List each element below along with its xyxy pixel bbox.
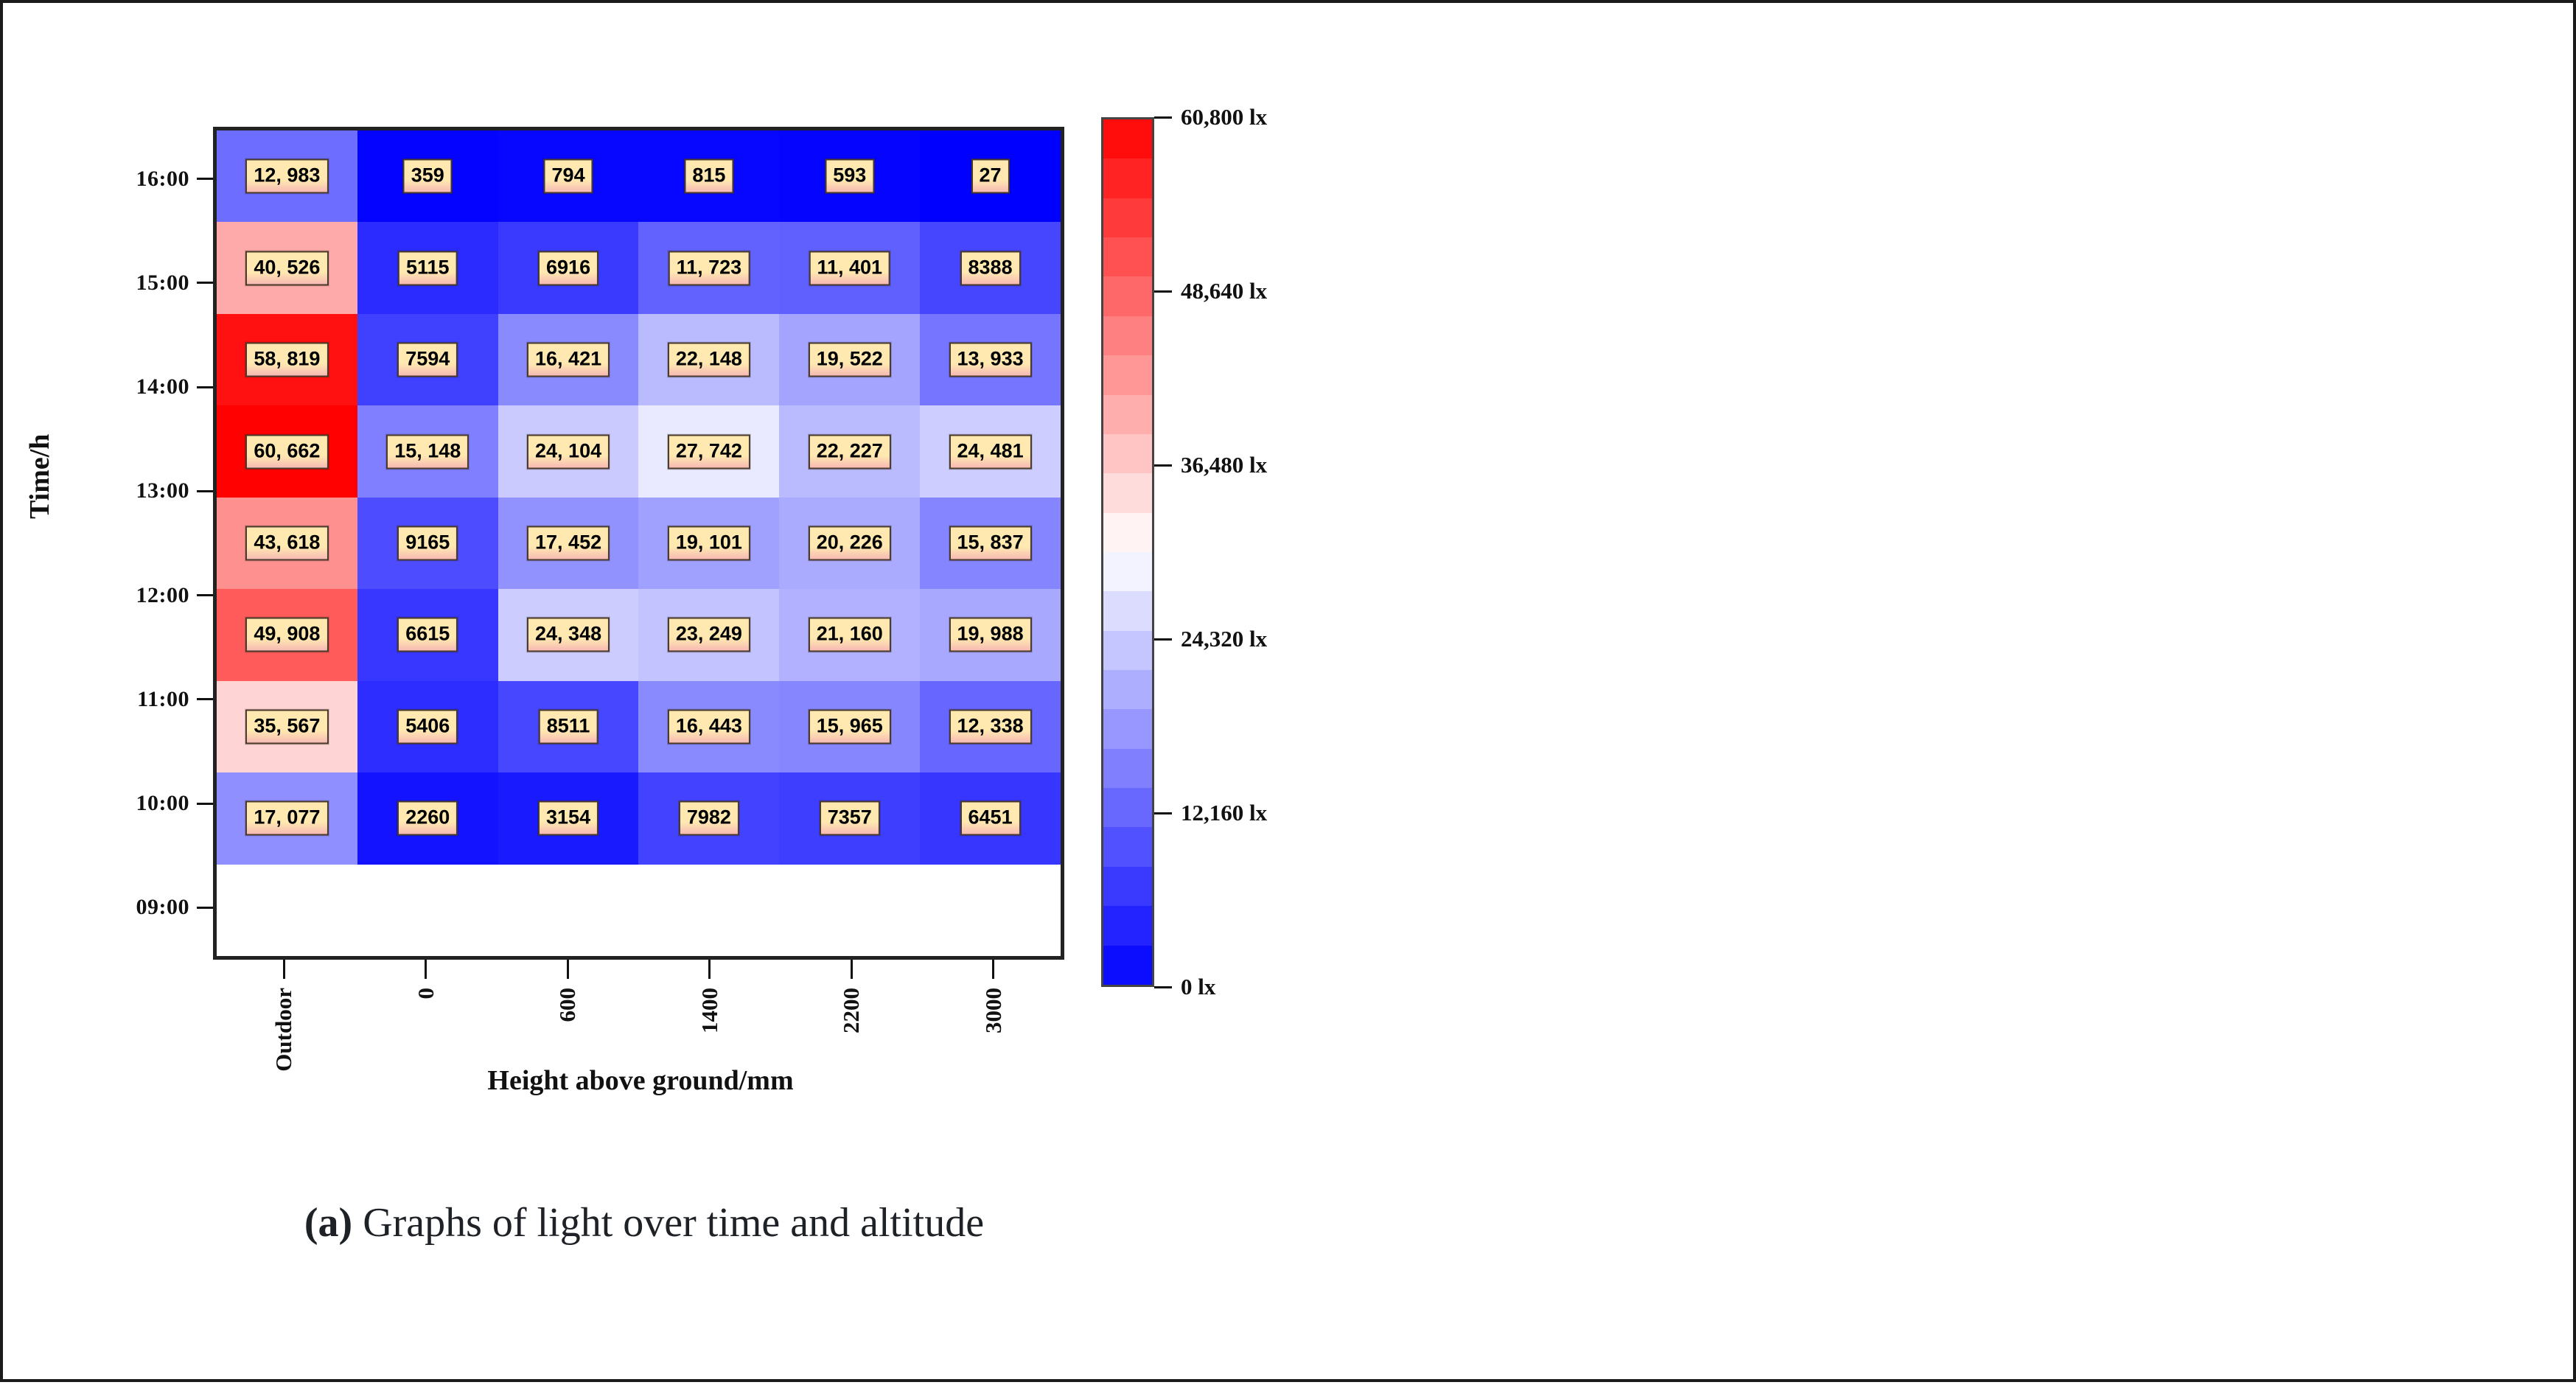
panel-a-cell-value: 35, 567	[245, 709, 328, 744]
panel-a-cell: 35, 567	[217, 681, 357, 772]
panel-a-cell-value: 12, 338	[949, 709, 1032, 744]
panel-a-cell-value: 24, 104	[527, 434, 610, 469]
panel-a-cell: 23, 249	[638, 589, 779, 680]
panel-a-cell-value: 24, 348	[527, 618, 610, 652]
panel-a-cell-value: 27, 742	[668, 434, 750, 469]
caption-a-text: Graphs of light over time and altitude	[352, 1200, 984, 1246]
panel-a-cell: 7982	[638, 772, 779, 864]
panel-a-colorbar-segment	[1103, 670, 1152, 709]
panel-a-cell: 11, 401	[779, 222, 920, 313]
panel-a-cell-value: 16, 421	[527, 343, 610, 377]
panel-a-x-tick-label: 2200	[838, 988, 865, 1033]
panel-a-colorbar	[1101, 117, 1154, 987]
panel-a-colorbar-tick-mark	[1154, 638, 1172, 641]
panel-a-cell: 794	[498, 130, 639, 222]
panel-a-x-tick-mark	[851, 960, 853, 979]
panel-a-cell-value: 11, 723	[669, 251, 750, 285]
panel-a-colorbar-segment	[1103, 198, 1152, 237]
panel-a-colorbar-segment	[1103, 158, 1152, 198]
panel-a-cell: 9165	[357, 498, 498, 589]
panel-a-cell-value: 593	[825, 159, 874, 194]
panel-a-cell: 359	[357, 130, 498, 222]
panel-a-cell-value: 60, 662	[245, 434, 328, 469]
panel-a-cell-value: 19, 101	[668, 526, 750, 560]
panel-a-cell-value: 15, 965	[809, 709, 891, 744]
panel-a-colorbar-tick-label: 48,640 lx	[1181, 278, 1267, 304]
panel-a-x-tick-label: Outdoor	[270, 988, 297, 1072]
panel-a-cell-value: 17, 077	[245, 801, 328, 836]
panel-a-cell: 2260	[357, 772, 498, 864]
panel-a-colorbar-tick-label: 24,320 lx	[1181, 626, 1267, 652]
panel-a-cell: 60, 662	[217, 405, 357, 497]
panel-a-y-tick-mark	[197, 490, 213, 492]
panel-a-y-tick-label: 16:00	[136, 167, 190, 192]
panel-a-cell-value: 9165	[397, 526, 458, 560]
panel-a-y-tick-label: 12:00	[136, 583, 190, 608]
panel-a-cell-value: 19, 522	[809, 343, 891, 377]
panel-a-colorbar-segment	[1103, 867, 1152, 906]
panel-a-x-tick-label: 3000	[980, 988, 1007, 1033]
panel-a-cell: 5406	[357, 681, 498, 772]
panel-a-colorbar-tick-mark	[1154, 290, 1172, 293]
panel-a-colorbar-tick: 0 lx	[1154, 974, 1215, 1000]
panel-a-colorbar-tick: 24,320 lx	[1154, 626, 1267, 652]
panel-a-colorbar-segment	[1103, 631, 1152, 670]
panel-a-cell-value: 22, 227	[809, 434, 891, 469]
panel-a-colorbar-segment	[1103, 591, 1152, 630]
panel-a-colorbar-tick-label: 12,160 lx	[1181, 800, 1267, 826]
panel-a-cell-value: 6615	[397, 618, 458, 652]
panel-a-x-tick-label: 0	[413, 988, 439, 999]
panel-a-cell-value: 7982	[679, 801, 739, 836]
panel-a-cell-value: 7357	[820, 801, 880, 836]
panel-a-cell-value: 21, 160	[809, 618, 891, 652]
panel-a-x-tick: 0	[413, 960, 439, 1003]
panel-a-cell-value: 17, 452	[527, 526, 610, 560]
panel-a-cell-value: 20, 226	[809, 526, 891, 560]
panel-a-cell: 40, 526	[217, 222, 357, 313]
panel-a-cell-value: 6451	[960, 801, 1021, 836]
panel-a-cell-value: 12, 983	[245, 159, 328, 194]
panel-a-colorbar-tick-label: 36,480 lx	[1181, 452, 1267, 478]
panel-a-colorbar-segment	[1103, 552, 1152, 591]
panel-a-colorbar-segment	[1103, 237, 1152, 276]
panel-a-cell: 15, 965	[779, 681, 920, 772]
panel-a-x-tick: 1400	[697, 960, 723, 1037]
panel-a-cell: 19, 522	[779, 314, 920, 405]
panel-a-x-tick: 2200	[838, 960, 865, 1037]
panel-a-colorbar-segment	[1103, 434, 1152, 473]
panel-b-y-axis: 16:0015:0014:0013:0012:0011:0010:0009:00	[2568, 16, 2576, 952]
panel-a-colorbar-segment	[1103, 946, 1152, 985]
panel-a-x-tick-mark	[708, 960, 711, 979]
panel-a-cell-value: 3154	[538, 801, 598, 836]
panel-a-cell: 16, 443	[638, 681, 779, 772]
panel-a-cell-value: 11, 401	[809, 251, 890, 285]
panel-a-y-tick-label: 11:00	[137, 687, 189, 712]
panel-a-cell-value: 8388	[960, 251, 1021, 285]
panel-a-x-tick: 600	[554, 960, 581, 1026]
panel-a-colorbar-tick-mark	[1154, 986, 1172, 988]
panel-a-cell-value: 27	[971, 159, 1010, 194]
panel-a-cell: 15, 148	[357, 405, 498, 497]
panel-a-x-tick-mark	[425, 960, 427, 979]
panel-a-colorbar-segment	[1103, 395, 1152, 434]
panel-a-cell-value: 6916	[538, 251, 598, 285]
panel-a-cell: 7357	[779, 772, 920, 864]
panel-a-cell-value: 15, 837	[949, 526, 1032, 560]
panel-a-colorbar-segment	[1103, 119, 1152, 158]
panel-a-cell: 3154	[498, 772, 639, 864]
panel-a-cell: 13, 933	[920, 314, 1061, 405]
panel-a-cell: 19, 101	[638, 498, 779, 589]
panel-a-cell-value: 815	[684, 159, 733, 194]
panel-a-x-tick: 3000	[980, 960, 1007, 1037]
panel-a-heatmap-grid: 12, 9833597948155932740, 5265115691611, …	[213, 127, 1064, 960]
panel-a-light-heatmap: Time/h 16:0015:0014:0013:0012:0011:0010:…	[3, 3, 1285, 1385]
panel-a-y-tick-label: 13:00	[136, 478, 190, 503]
panel-a-y-tick-label: 10:00	[136, 791, 190, 816]
panel-a-cell: 17, 077	[217, 772, 357, 864]
panel-a-colorbar-segment	[1103, 906, 1152, 945]
figure-frame: Time/h 16:0015:0014:0013:0012:0011:0010:…	[0, 0, 2576, 1382]
panel-a-cell: 19, 988	[920, 589, 1061, 680]
panel-a-cell: 7594	[357, 314, 498, 405]
panel-a-colorbar-segment	[1103, 788, 1152, 827]
panel-a-colorbar-segment	[1103, 473, 1152, 512]
panel-a-colorbar-segment	[1103, 276, 1152, 315]
panel-a-cell: 12, 983	[217, 130, 357, 222]
panel-a-cell-value: 15, 148	[386, 434, 469, 469]
panel-a-cell: 49, 908	[217, 589, 357, 680]
panel-a-cell: 20, 226	[779, 498, 920, 589]
panel-a-cell: 8511	[498, 681, 639, 772]
panel-a-y-tick-mark	[197, 698, 213, 700]
panel-a-cell-value: 5115	[398, 251, 458, 285]
panel-a-cell-value: 22, 148	[668, 343, 750, 377]
panel-a-colorbar-segment	[1103, 749, 1152, 788]
panel-a-cell: 815	[638, 130, 779, 222]
panel-a-cell-value: 794	[544, 159, 593, 194]
panel-a-cell: 15, 837	[920, 498, 1061, 589]
panel-a-cell: 21, 160	[779, 589, 920, 680]
panel-a-y-tick-mark	[197, 803, 213, 805]
panel-a-x-axis-label: Height above ground/mm	[257, 1064, 1024, 1097]
panel-a-cell: 593	[779, 130, 920, 222]
panel-a-cell: 6451	[920, 772, 1061, 864]
panel-a-y-axis: 16:0015:0014:0013:0012:0011:0010:0009:00	[3, 127, 213, 960]
panel-a-cell-value: 359	[403, 159, 453, 194]
panel-a-y-tick-label: 09:00	[136, 895, 190, 920]
panel-a-y-tick-mark	[197, 907, 213, 909]
panel-a-cell-value: 7594	[397, 343, 458, 377]
panel-a-cell: 43, 618	[217, 498, 357, 589]
panel-a-y-tick-label: 15:00	[136, 271, 190, 296]
panel-a-cell: 24, 481	[920, 405, 1061, 497]
panel-a-cell-value: 23, 249	[668, 618, 750, 652]
panel-a-x-tick-mark	[567, 960, 569, 979]
panel-a-cell: 6615	[357, 589, 498, 680]
panel-a-colorbar-tick-label: 60,800 lx	[1181, 104, 1267, 130]
panel-a-cell-value: 5406	[397, 709, 458, 744]
panel-a-cell-value: 24, 481	[949, 434, 1032, 469]
panel-a-y-tick-mark	[197, 178, 213, 180]
panel-a-x-tick-mark	[992, 960, 994, 979]
panel-a-cell-value: 19, 988	[949, 618, 1032, 652]
panel-a-cell-value: 2260	[397, 801, 458, 836]
panel-a-x-tick: Outdoor	[270, 960, 297, 1075]
panel-a-colorbar-tick: 48,640 lx	[1154, 278, 1267, 304]
panel-a-colorbar-segment	[1103, 355, 1152, 394]
panel-a-y-tick-mark	[197, 282, 213, 284]
panel-a-x-tick-label: 1400	[697, 988, 723, 1033]
panel-a-colorbar-tick-label: 0 lx	[1181, 974, 1215, 1000]
panel-a-cell: 12, 338	[920, 681, 1061, 772]
panel-a-cell: 16, 421	[498, 314, 639, 405]
panel-a-colorbar-segment	[1103, 316, 1152, 355]
panel-a-x-axis: Outdoor0600140022003000	[213, 960, 1064, 1137]
panel-a-cell: 24, 104	[498, 405, 639, 497]
panel-a-colorbar-segment	[1103, 513, 1152, 552]
panel-a-cell-value: 49, 908	[245, 618, 328, 652]
panel-a-cell: 27, 742	[638, 405, 779, 497]
caption-a-prefix: (a)	[304, 1200, 352, 1246]
panel-a-colorbar-tick: 36,480 lx	[1154, 452, 1267, 478]
panel-a-colorbar-segment	[1103, 827, 1152, 866]
panel-a-colorbar-tick-mark	[1154, 464, 1172, 467]
caption-a: (a) Graphs of light over time and altitu…	[47, 1197, 1241, 1249]
panel-a-cell: 58, 819	[217, 314, 357, 405]
panel-a-colorbar-tick-mark	[1154, 812, 1172, 814]
panel-a-cell-value: 8511	[539, 709, 598, 744]
panel-a-colorbar-tick-mark	[1154, 116, 1172, 119]
panel-a-cell: 22, 227	[779, 405, 920, 497]
panel-b-temperature-heatmap: Time/h 16:0015:0014:0013:0012:0011:0010:…	[1285, 3, 2576, 1385]
panel-a-cell-value: 16, 443	[668, 709, 750, 744]
panel-a-cell: 5115	[357, 222, 498, 313]
panel-a-cell-value: 13, 933	[949, 343, 1032, 377]
panel-a-y-tick-mark	[197, 386, 213, 388]
panel-a-colorbar-segment	[1103, 709, 1152, 748]
panel-a-y-tick-mark	[197, 594, 213, 596]
panel-a-x-tick-mark	[283, 960, 285, 979]
panel-a-cell: 6916	[498, 222, 639, 313]
panel-a-cell: 8388	[920, 222, 1061, 313]
panel-a-cell-value: 58, 819	[245, 343, 328, 377]
panel-a-colorbar-tick: 12,160 lx	[1154, 800, 1267, 826]
panel-a-cell: 22, 148	[638, 314, 779, 405]
panel-a-cell: 24, 348	[498, 589, 639, 680]
panel-a-cell-value: 43, 618	[245, 526, 328, 560]
panel-a-colorbar-tick: 60,800 lx	[1154, 104, 1267, 130]
panel-a-cell-value: 40, 526	[245, 251, 328, 285]
panel-a-cell: 27	[920, 130, 1061, 222]
panel-a-x-tick-label: 600	[554, 988, 581, 1022]
panel-a-cell: 17, 452	[498, 498, 639, 589]
panel-a-cell: 11, 723	[638, 222, 779, 313]
panel-a-y-tick-label: 14:00	[136, 374, 190, 400]
